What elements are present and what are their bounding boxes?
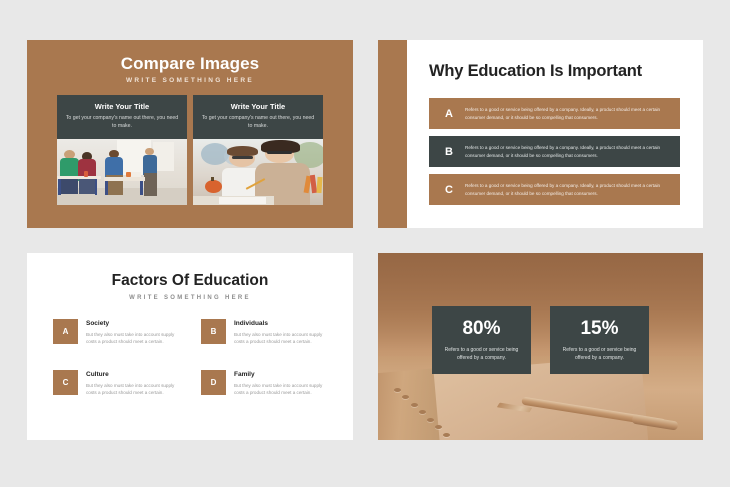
item-description: But they also must take into account sup…	[86, 331, 179, 345]
compare-column-left[interactable]: Write Your Title To get your company's n…	[57, 95, 187, 205]
compare-card-right: Write Your Title To get your company's n…	[193, 95, 323, 139]
card-body: To get your company's name out there, yo…	[65, 115, 179, 130]
item-text-block: Individuals But they also must take into…	[234, 319, 327, 345]
compare-images-header: Compare Images WRITE SOMETHING HERE	[27, 40, 353, 84]
why-education-body: Why Education Is Important A Refers to a…	[407, 40, 703, 228]
item-text-block: Society But they also must take into acc…	[86, 319, 179, 345]
stat-card[interactable]: 80% Refers to a good or service being of…	[432, 306, 531, 374]
item-description: But they also must take into account sup…	[234, 331, 327, 345]
page-title: Factors Of Education	[27, 272, 353, 290]
item-letter-badge: D	[201, 370, 226, 395]
row-description: Refers to a good or service being offere…	[465, 144, 680, 158]
classroom-students-at-tables-photo	[57, 139, 187, 205]
why-education-rows: A Refers to a good or service being offe…	[429, 98, 680, 205]
slide-why-education-is-important[interactable]: Why Education Is Important A Refers to a…	[378, 40, 703, 228]
list-item[interactable]: C Culture But they also must take into a…	[53, 370, 179, 396]
item-letter-badge: A	[53, 319, 78, 344]
item-text-block: Family But they also must take into acco…	[234, 370, 327, 396]
item-description: But they also must take into account sup…	[86, 382, 179, 396]
list-item[interactable]: D Family But they also must take into ac…	[201, 370, 327, 396]
row-letter-badge: B	[433, 146, 465, 158]
card-body: To get your company's name out there, yo…	[201, 115, 315, 130]
item-letter-badge: B	[201, 319, 226, 344]
item-letter-badge: C	[53, 370, 78, 395]
factors-header: Factors Of Education WRITE SOMETHING HER…	[27, 253, 353, 301]
item-label: Individuals	[234, 319, 327, 328]
stat-description: Refers to a good or service being offere…	[442, 347, 521, 362]
item-description: But they also must take into account sup…	[234, 382, 327, 396]
row-description: Refers to a good or service being offere…	[465, 182, 680, 196]
slide-statistics[interactable]: 80% Refers to a good or service being of…	[378, 253, 703, 440]
stat-card[interactable]: 15% Refers to a good or service being of…	[550, 306, 649, 374]
stat-value: 80%	[462, 318, 500, 340]
page-title: Compare Images	[27, 54, 353, 73]
page-subtitle: WRITE SOMETHING HERE	[27, 77, 353, 84]
list-item[interactable]: C Refers to a good or service being offe…	[429, 174, 680, 205]
slide-compare-images[interactable]: Compare Images WRITE SOMETHING HERE Writ…	[27, 40, 353, 228]
factors-grid: A Society But they also must take into a…	[27, 319, 353, 396]
list-item[interactable]: A Refers to a good or service being offe…	[429, 98, 680, 129]
stat-value: 15%	[580, 318, 618, 340]
list-item[interactable]: B Refers to a good or service being offe…	[429, 136, 680, 167]
compare-column-right[interactable]: Write Your Title To get your company's n…	[193, 95, 323, 205]
page-title: Why Education Is Important	[429, 62, 680, 81]
teacher-tutoring-child-photo	[193, 139, 323, 205]
card-title: Write Your Title	[65, 102, 179, 112]
item-label: Culture	[86, 370, 179, 379]
card-title: Write Your Title	[201, 102, 315, 112]
stat-description: Refers to a good or service being offere…	[560, 347, 639, 362]
list-item[interactable]: B Individuals But they also must take in…	[201, 319, 327, 345]
item-text-block: Culture But they also must take into acc…	[86, 370, 179, 396]
page-subtitle: WRITE SOMETHING HERE	[27, 295, 353, 301]
statistics-cards: 80% Refers to a good or service being of…	[378, 253, 703, 440]
row-description: Refers to a good or service being offere…	[465, 106, 680, 120]
compare-columns: Write Your Title To get your company's n…	[27, 95, 353, 205]
slide-deck-preview-canvas: Compare Images WRITE SOMETHING HERE Writ…	[0, 0, 730, 487]
row-letter-badge: A	[433, 108, 465, 120]
item-label: Society	[86, 319, 179, 328]
row-letter-badge: C	[433, 184, 465, 196]
list-item[interactable]: A Society But they also must take into a…	[53, 319, 179, 345]
compare-card-left: Write Your Title To get your company's n…	[57, 95, 187, 139]
accent-strip	[378, 40, 407, 228]
item-label: Family	[234, 370, 327, 379]
slide-factors-of-education[interactable]: Factors Of Education WRITE SOMETHING HER…	[27, 253, 353, 440]
